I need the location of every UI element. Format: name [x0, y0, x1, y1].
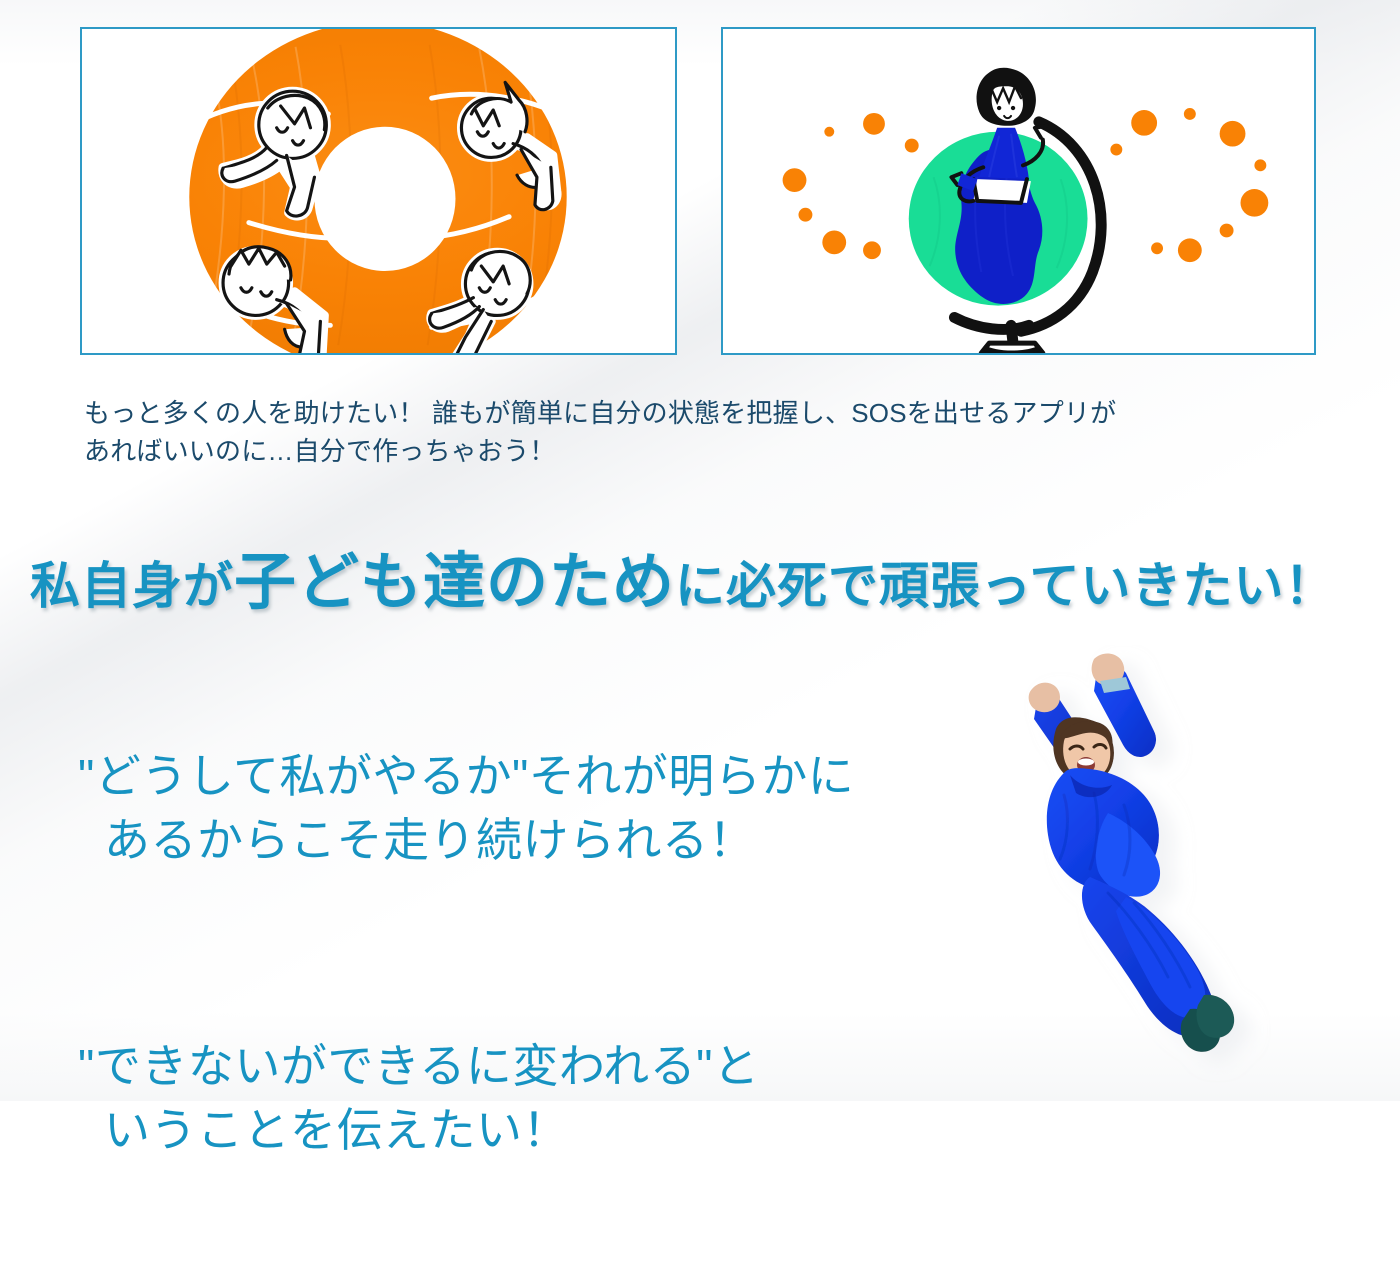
quote-1-line-1: "どうして私がやるか"それが明らかに: [78, 750, 854, 802]
headline-suffix: に必死で頑張っていきたい！: [675, 558, 1336, 614]
globe-illustration: [723, 29, 1314, 353]
quote-2-line-1: "できないができるに変われる"と: [78, 1040, 759, 1092]
headline-prefix: 私自身が: [30, 558, 234, 614]
intro-caption: もっと多くの人を助けたい！ 誰もが簡単に自分の状態を把握し、SOSを出せるアプリ…: [84, 395, 1284, 470]
illustration-panels: [0, 0, 1400, 378]
panel-globe-illustration: [721, 27, 1316, 355]
donut-svg: [82, 29, 675, 353]
panel-donut-illustration: [80, 27, 677, 355]
person-body: [1029, 653, 1235, 1051]
quote-block-2: "できないができるに変われる"と いうことを伝えたい！: [78, 972, 978, 1226]
quote-1-line-2: あるからこそ走り続けられる！: [78, 809, 978, 872]
donut-illustration: [82, 29, 675, 353]
jumping-person-svg: [1004, 645, 1274, 1090]
quote-list: "どうして私がやるか"それが明らかに あるからこそ走り続けられる！ "できないが…: [78, 682, 978, 1262]
page-headline: 私自身が子ども達のために必死で頑張っていきたい！: [30, 552, 1390, 614]
jumping-person-photo: [1004, 645, 1274, 1090]
quote-block-1: "どうして私がやるか"それが明らかに あるからこそ走り続けられる！: [78, 682, 978, 936]
person-shoe-2: [1197, 995, 1235, 1038]
globe-svg: [723, 29, 1314, 353]
quote-2-line-2: いうことを伝えたい！: [78, 1099, 978, 1162]
donut-ring: [82, 29, 675, 353]
globe-base: [981, 343, 1043, 353]
headline-emphasis: 子ども達のため: [234, 548, 675, 617]
person-left-fist: [1029, 683, 1060, 713]
